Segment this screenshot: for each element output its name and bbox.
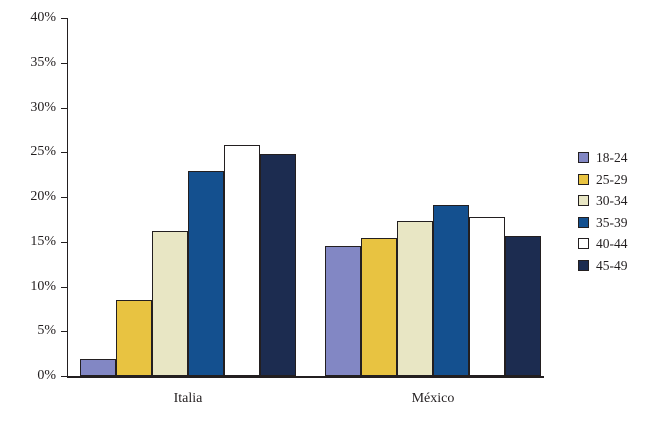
bar [260, 154, 296, 376]
legend-item-label: 45-49 [596, 259, 628, 273]
bar [361, 238, 397, 376]
y-axis-tick-mark [61, 18, 68, 19]
y-axis-tick-label: 25% [4, 145, 56, 159]
y-axis-tick-mark [61, 152, 68, 153]
y-axis-tick-mark [61, 242, 68, 243]
y-axis-tick-label: 40% [4, 11, 56, 25]
x-axis-category-label: Italia [128, 392, 248, 406]
plot-area [68, 18, 544, 376]
bar [224, 145, 260, 376]
y-axis-tick-mark [61, 108, 68, 109]
y-axis-tick-mark [61, 63, 68, 64]
y-axis-tick-label: 35% [4, 56, 56, 70]
y-axis-tick-label: 0% [4, 369, 56, 383]
legend-item: 18-24 [578, 147, 628, 169]
legend-item: 30-34 [578, 190, 628, 212]
legend-color-swatch [578, 174, 589, 185]
legend-item: 25-29 [578, 169, 628, 191]
y-axis-tick-label: 30% [4, 101, 56, 115]
legend-item-label: 25-29 [596, 173, 628, 187]
legend-item-label: 18-24 [596, 151, 628, 165]
legend-item-label: 30-34 [596, 194, 628, 208]
legend-color-swatch [578, 217, 589, 228]
x-axis-line [67, 376, 544, 378]
y-axis-tick-label: 15% [4, 235, 56, 249]
y-axis-tick-mark [61, 287, 68, 288]
y-axis-tick-label: 5% [4, 324, 56, 338]
legend-item: 40-44 [578, 233, 628, 255]
chart-legend: 18-2425-2930-3435-3940-4445-49 [578, 147, 628, 276]
legend-color-swatch [578, 152, 589, 163]
legend-item: 35-39 [578, 212, 628, 234]
legend-color-swatch [578, 260, 589, 271]
bar [116, 300, 152, 376]
x-axis-category-label: México [373, 392, 493, 406]
y-axis-tick-mark [61, 331, 68, 332]
legend-color-swatch [578, 195, 589, 206]
bar [433, 205, 469, 376]
bar [325, 246, 361, 376]
bar [188, 171, 224, 376]
y-axis-tick-label: 20% [4, 190, 56, 204]
y-axis-tick-mark [61, 197, 68, 198]
bar [469, 217, 505, 376]
bar-chart: 0%5%10%15%20%25%30%35%40% ItaliaMéxico 1… [0, 0, 651, 425]
legend-color-swatch [578, 238, 589, 249]
bar [397, 221, 433, 376]
y-axis-tick-label: 10% [4, 280, 56, 294]
legend-item-label: 35-39 [596, 216, 628, 230]
bar [152, 231, 188, 376]
legend-item-label: 40-44 [596, 237, 628, 251]
bar [80, 359, 116, 376]
bar [505, 236, 541, 377]
legend-item: 45-49 [578, 255, 628, 277]
